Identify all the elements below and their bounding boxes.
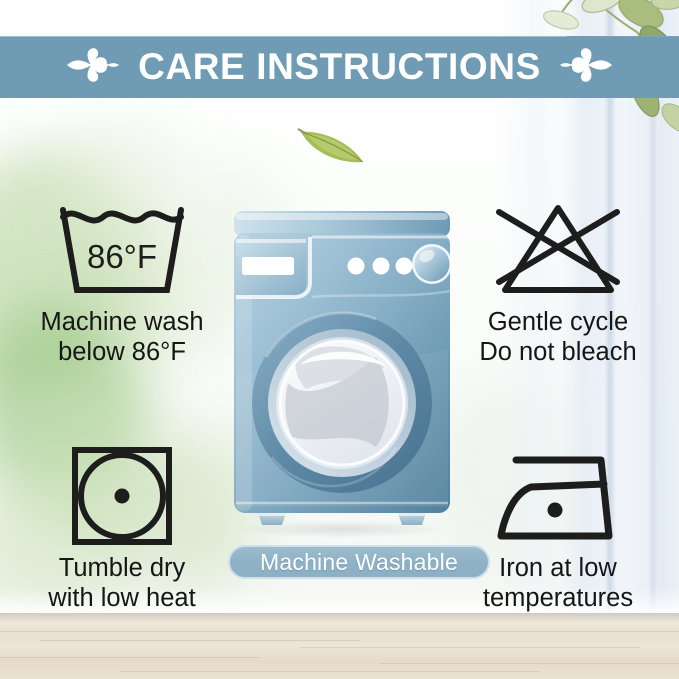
care-symbol-machine-wash: 86°F Machine wash below 86°F: [12, 196, 232, 367]
iron-heat-level-dot: [548, 503, 563, 518]
triangle-crossed-out-icon: [448, 196, 668, 304]
care-symbol-no-bleach: Gentle cycle Do not bleach: [448, 196, 668, 367]
care-symbol-caption: Machine wash below 86°F: [12, 308, 232, 367]
indicator-light: [396, 258, 413, 275]
page-title: CARE INSTRUCTIONS: [138, 46, 541, 88]
wash-tub-icon: 86°F: [12, 196, 232, 304]
fleur-de-lis-icon: [64, 43, 122, 92]
indicator-light: [373, 258, 390, 275]
leaf-icon: [297, 120, 367, 168]
fleur-de-lis-icon: [557, 43, 615, 92]
care-symbol-caption: Gentle cycle Do not bleach: [448, 308, 668, 367]
header-banner: CARE INSTRUCTIONS: [0, 36, 679, 98]
front-load-washing-machine-icon: [226, 207, 458, 532]
care-instructions-graphic: CARE INSTRUCTIONS: [0, 0, 679, 679]
care-symbol-caption: Tumble dry with low heat: [12, 554, 232, 613]
iron-one-dot-icon: [448, 442, 668, 550]
drawer-handle-slot: [242, 257, 294, 275]
tumble-dry-one-dot-icon: [12, 442, 232, 550]
status-badge-label: Machine Washable: [260, 549, 458, 576]
status-badge: Machine Washable: [228, 545, 490, 579]
wooden-table-surface: [0, 613, 679, 679]
care-symbol-tumble-dry: Tumble dry with low heat: [12, 442, 232, 613]
care-symbol-iron: Iron at low temperatures: [448, 442, 668, 613]
wash-temperature-label: 86°F: [87, 238, 157, 275]
dry-heat-level-dot: [115, 489, 130, 504]
indicator-light: [348, 258, 365, 275]
